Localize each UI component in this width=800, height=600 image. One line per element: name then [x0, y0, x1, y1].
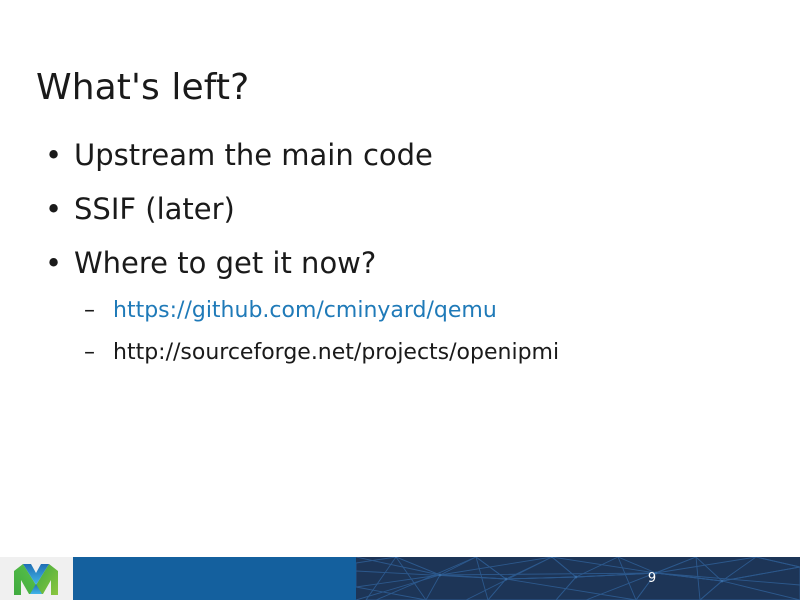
- list-item: • Where to get it now?: [0, 236, 760, 290]
- list-item-label: SSIF (later): [74, 192, 235, 226]
- list-item: • SSIF (later): [0, 182, 760, 236]
- list-item-label: Where to get it now?: [74, 246, 376, 280]
- footer-logo-zone: [0, 557, 73, 600]
- slide: What's left? • Upstream the main code • …: [0, 0, 800, 600]
- content-bullet-list: • Upstream the main code • SSIF (later) …: [0, 128, 760, 374]
- github-url-link[interactable]: https://github.com/cminyard/qemu: [113, 298, 497, 323]
- list-item: • Upstream the main code: [0, 128, 760, 182]
- footer-accent-bar: [73, 557, 356, 600]
- dash-marker-icon: –: [84, 290, 95, 332]
- network-pattern-svg: [356, 557, 800, 600]
- sub-list-item-sourceforge-link[interactable]: – http://sourceforge.net/projects/openip…: [0, 332, 760, 374]
- page-title: What's left?: [36, 66, 249, 110]
- list-item-label: Upstream the main code: [74, 138, 433, 172]
- bullet-marker-icon: •: [45, 128, 62, 182]
- dash-marker-icon: –: [84, 332, 95, 374]
- sub-list-item-github-link[interactable]: – https://github.com/cminyard/qemu: [0, 290, 760, 332]
- bullet-marker-icon: •: [45, 182, 62, 236]
- page-number: 9: [640, 557, 664, 600]
- bullet-marker-icon: •: [45, 236, 62, 290]
- network-triangle-pattern-icon: [356, 557, 800, 600]
- slide-footer: 9: [0, 557, 800, 600]
- sourceforge-url-link[interactable]: http://sourceforge.net/projects/openipmi: [113, 340, 559, 365]
- mellanox-m-logo-icon: [10, 561, 62, 597]
